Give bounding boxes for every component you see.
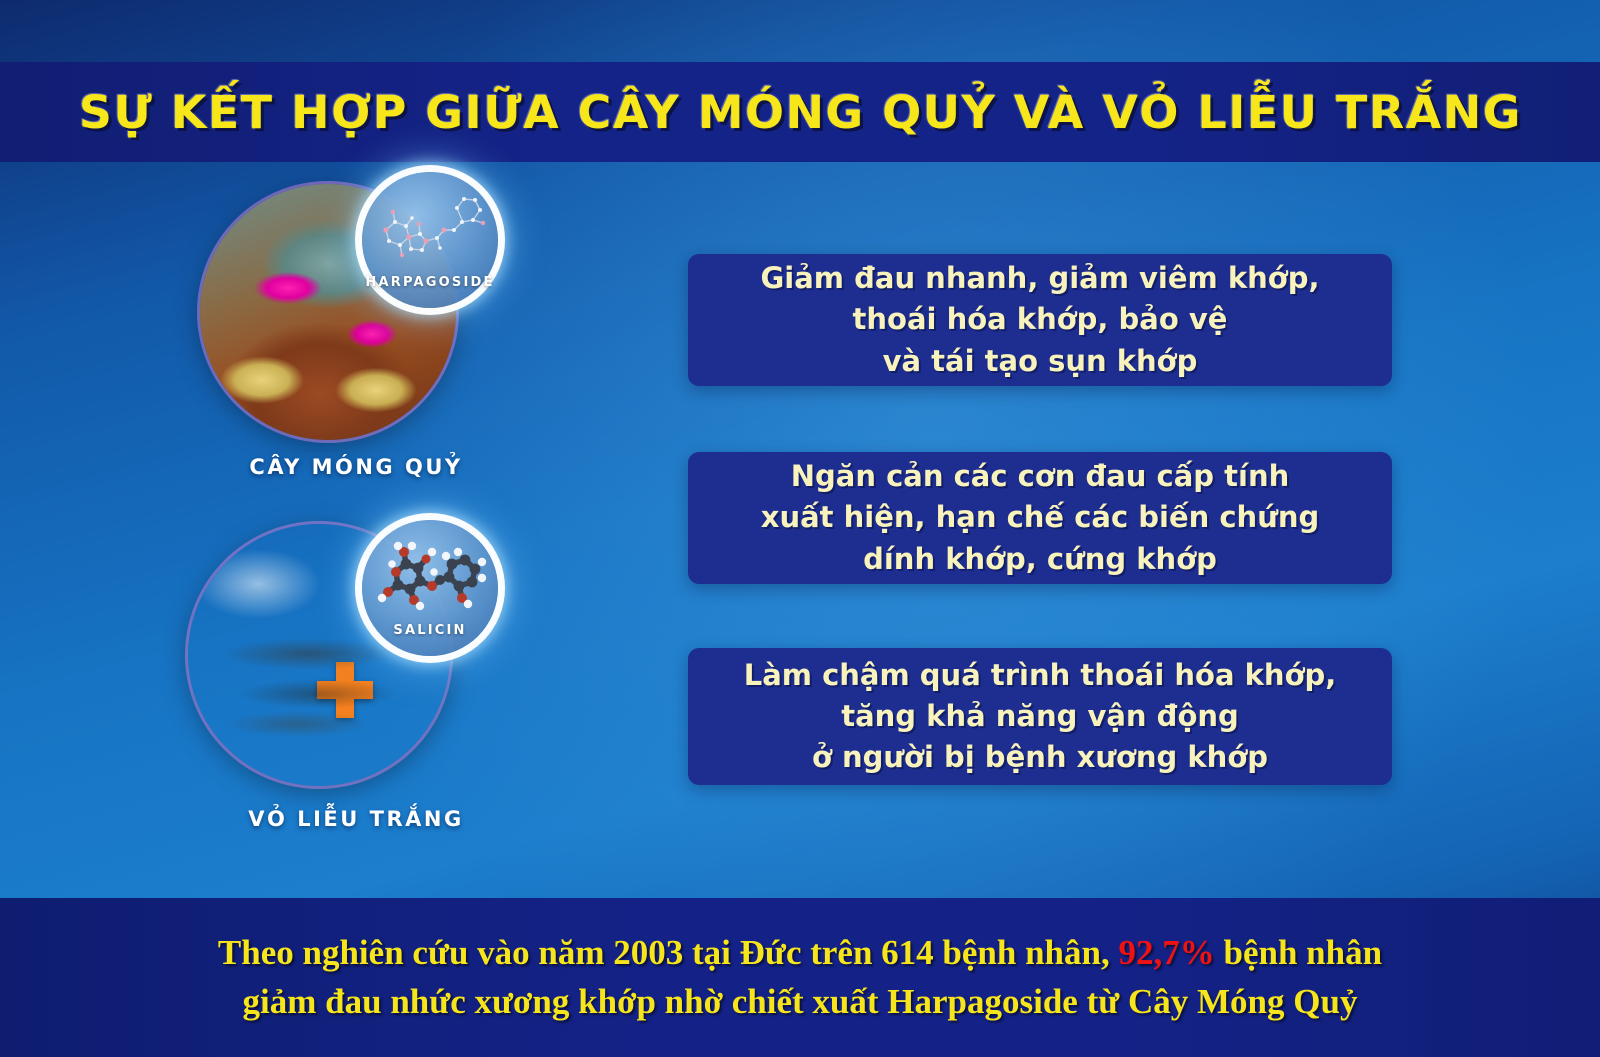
benefit-line: dính khớp, cứng khớp	[863, 539, 1217, 580]
benefit-line: thoái hóa khớp, bảo vệ	[853, 299, 1228, 340]
benefit-box-1: Giảm đau nhanh, giảm viêm khớp, thoái hó…	[688, 254, 1392, 386]
footer-highlight-percent: 92,7%	[1119, 933, 1215, 972]
benefit-line: tăng khả năng vận động	[841, 696, 1239, 737]
benefit-line: Ngăn cản các cơn đau cấp tính	[791, 456, 1290, 497]
harpagoside-badge-label: HARPAGOSIDE	[365, 275, 494, 290]
footer-text-after: bệnh nhân	[1224, 933, 1383, 972]
benefit-box-2: Ngăn cản các cơn đau cấp tính xuất hiện,…	[688, 452, 1392, 584]
ingredient-caption-2: VỎ LIỄU TRẮNG	[176, 807, 536, 831]
benefit-line: và tái tạo sụn khớp	[883, 341, 1198, 382]
title-band: SỰ KẾT HỢP GIỮA CÂY MÓNG QUỶ VÀ VỎ LIỄU …	[0, 62, 1600, 162]
footer-line-1: Theo nghiên cứu vào năm 2003 tại Đức trê…	[218, 929, 1382, 977]
benefit-line: Giảm đau nhanh, giảm viêm khớp,	[760, 258, 1319, 299]
footer-banner: Theo nghiên cứu vào năm 2003 tại Đức trê…	[0, 898, 1600, 1057]
harpagoside-badge: HARPAGOSIDE	[362, 172, 498, 308]
benefit-line: ở người bị bệnh xương khớp	[812, 737, 1268, 778]
footer-text-before: Theo nghiên cứu vào năm 2003 tại Đức trê…	[218, 933, 1110, 972]
salicin-badge-label: SALICIN	[393, 623, 466, 638]
benefit-line: xuất hiện, hạn chế các biến chứng	[761, 497, 1320, 538]
ingredient-caption-1: CÂY MÓNG QUỶ	[176, 455, 536, 479]
page-title: SỰ KẾT HỢP GIỮA CÂY MÓNG QUỶ VÀ VỎ LIỄU …	[78, 86, 1521, 139]
footer-line-2: giảm đau nhức xương khớp nhờ chiết xuất …	[243, 978, 1358, 1026]
benefit-line: Làm chậm quá trình thoái hóa khớp,	[744, 655, 1337, 696]
ingredients-column: HARPAGOSIDE CÂY MÓNG QUỶ	[176, 172, 536, 872]
salicin-molecule-icon	[362, 526, 498, 626]
harpagoside-molecule-icon	[362, 178, 498, 278]
poster-root: SỰ KẾT HỢP GIỮA CÂY MÓNG QUỶ VÀ VỎ LIỄU …	[0, 0, 1600, 1057]
benefit-box-3: Làm chậm quá trình thoái hóa khớp, tăng …	[688, 648, 1392, 785]
salicin-badge: SALICIN	[362, 520, 498, 656]
